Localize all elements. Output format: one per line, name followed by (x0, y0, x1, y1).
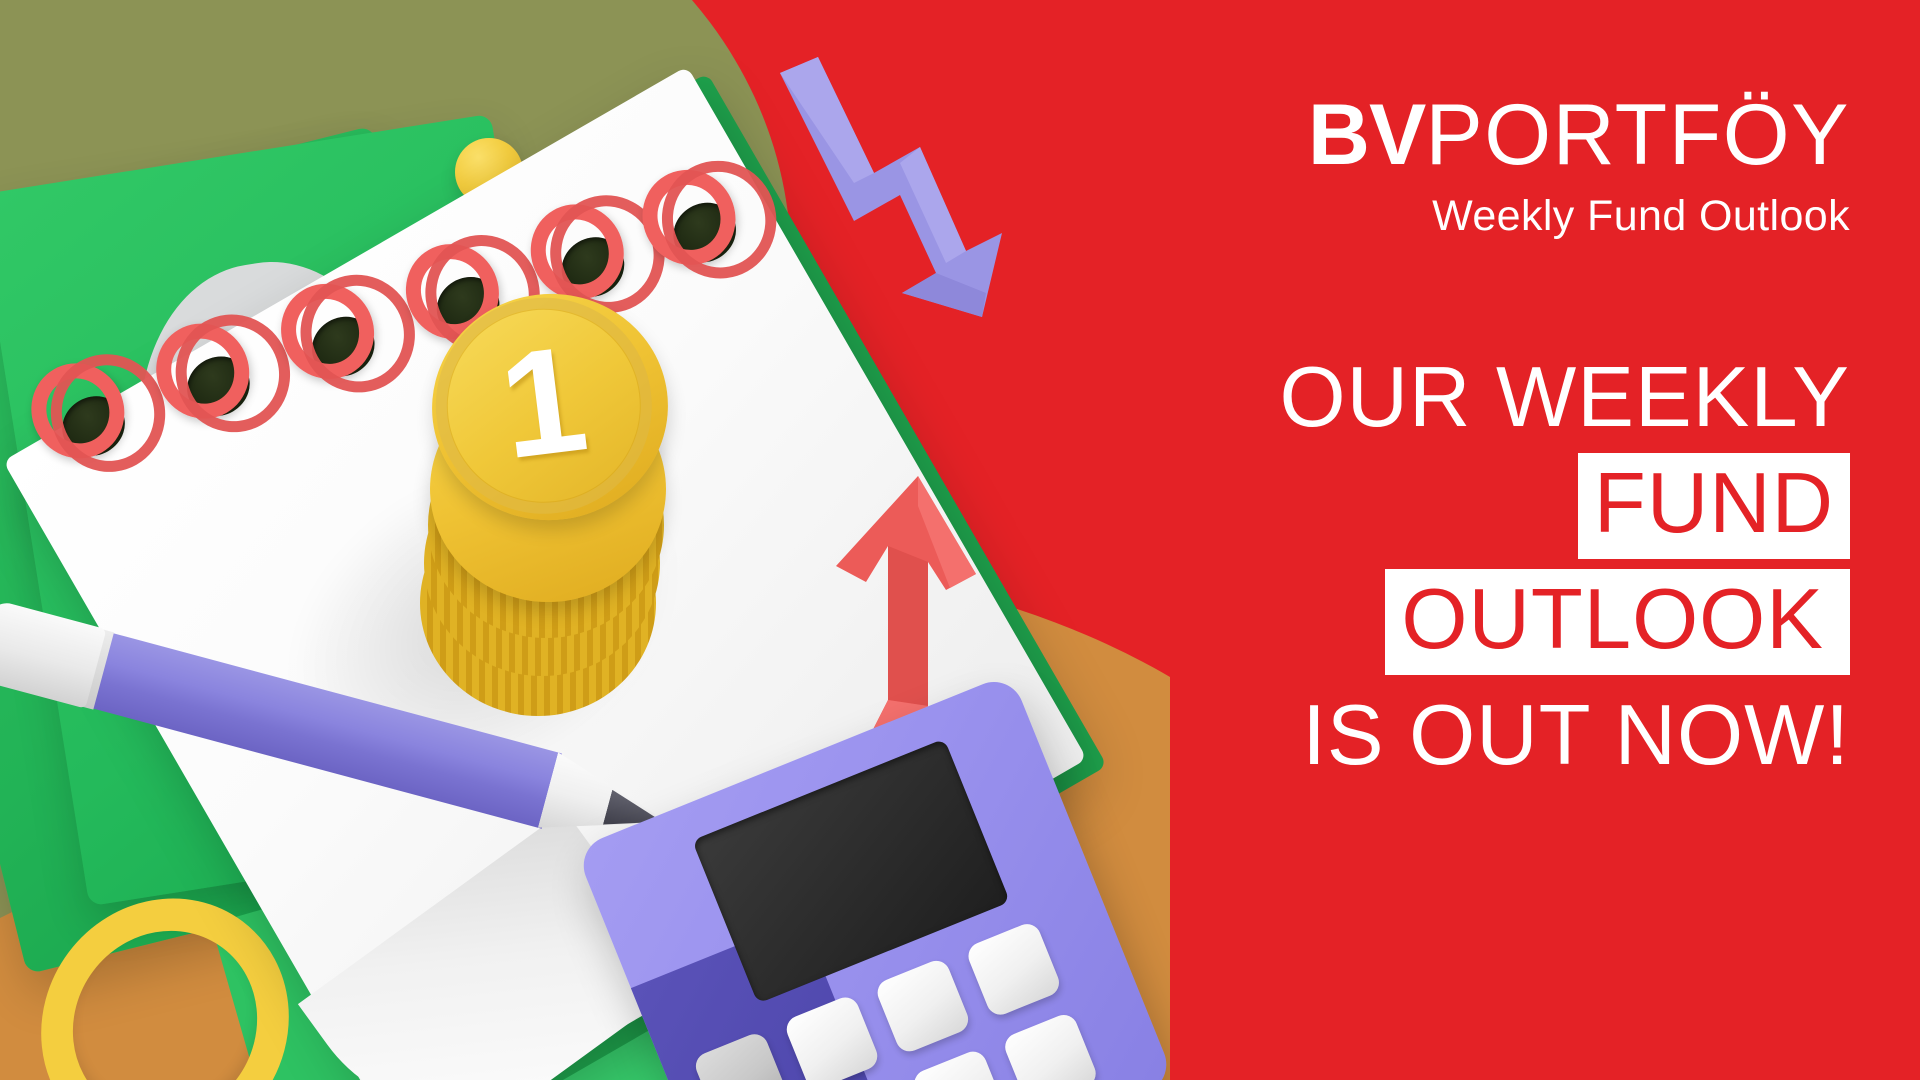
headline-line-3-boxed: OUTLOOK (1385, 569, 1850, 675)
calculator-key (910, 1047, 1009, 1080)
logo-bold-text: BV (1308, 92, 1425, 178)
headline-line-2-boxed: FUND (1578, 453, 1850, 559)
poster-canvas: $ (0, 0, 1920, 1080)
calculator-key (873, 957, 972, 1056)
arrow-down-icon (770, 55, 1010, 335)
brand-logo: BV PORTFÖY (1308, 92, 1850, 178)
headline-line-4: IS OUT NOW! (1302, 691, 1850, 781)
coin-stack: 1 (420, 290, 720, 710)
headline-block: OUR WEEKLY FUND OUTLOOK IS OUT NOW! (1280, 353, 1850, 781)
text-panel: BV PORTFÖY Weekly Fund Outlook OUR WEEKL… (1000, 0, 1920, 1080)
logo-thin-text: PORTFÖY (1425, 92, 1850, 178)
illustration-area: $ (0, 0, 1170, 1080)
brand-tagline: Weekly Fund Outlook (1432, 192, 1850, 241)
coin-value-label: 1 (493, 322, 594, 481)
headline-line-1: OUR WEEKLY (1280, 353, 1850, 443)
